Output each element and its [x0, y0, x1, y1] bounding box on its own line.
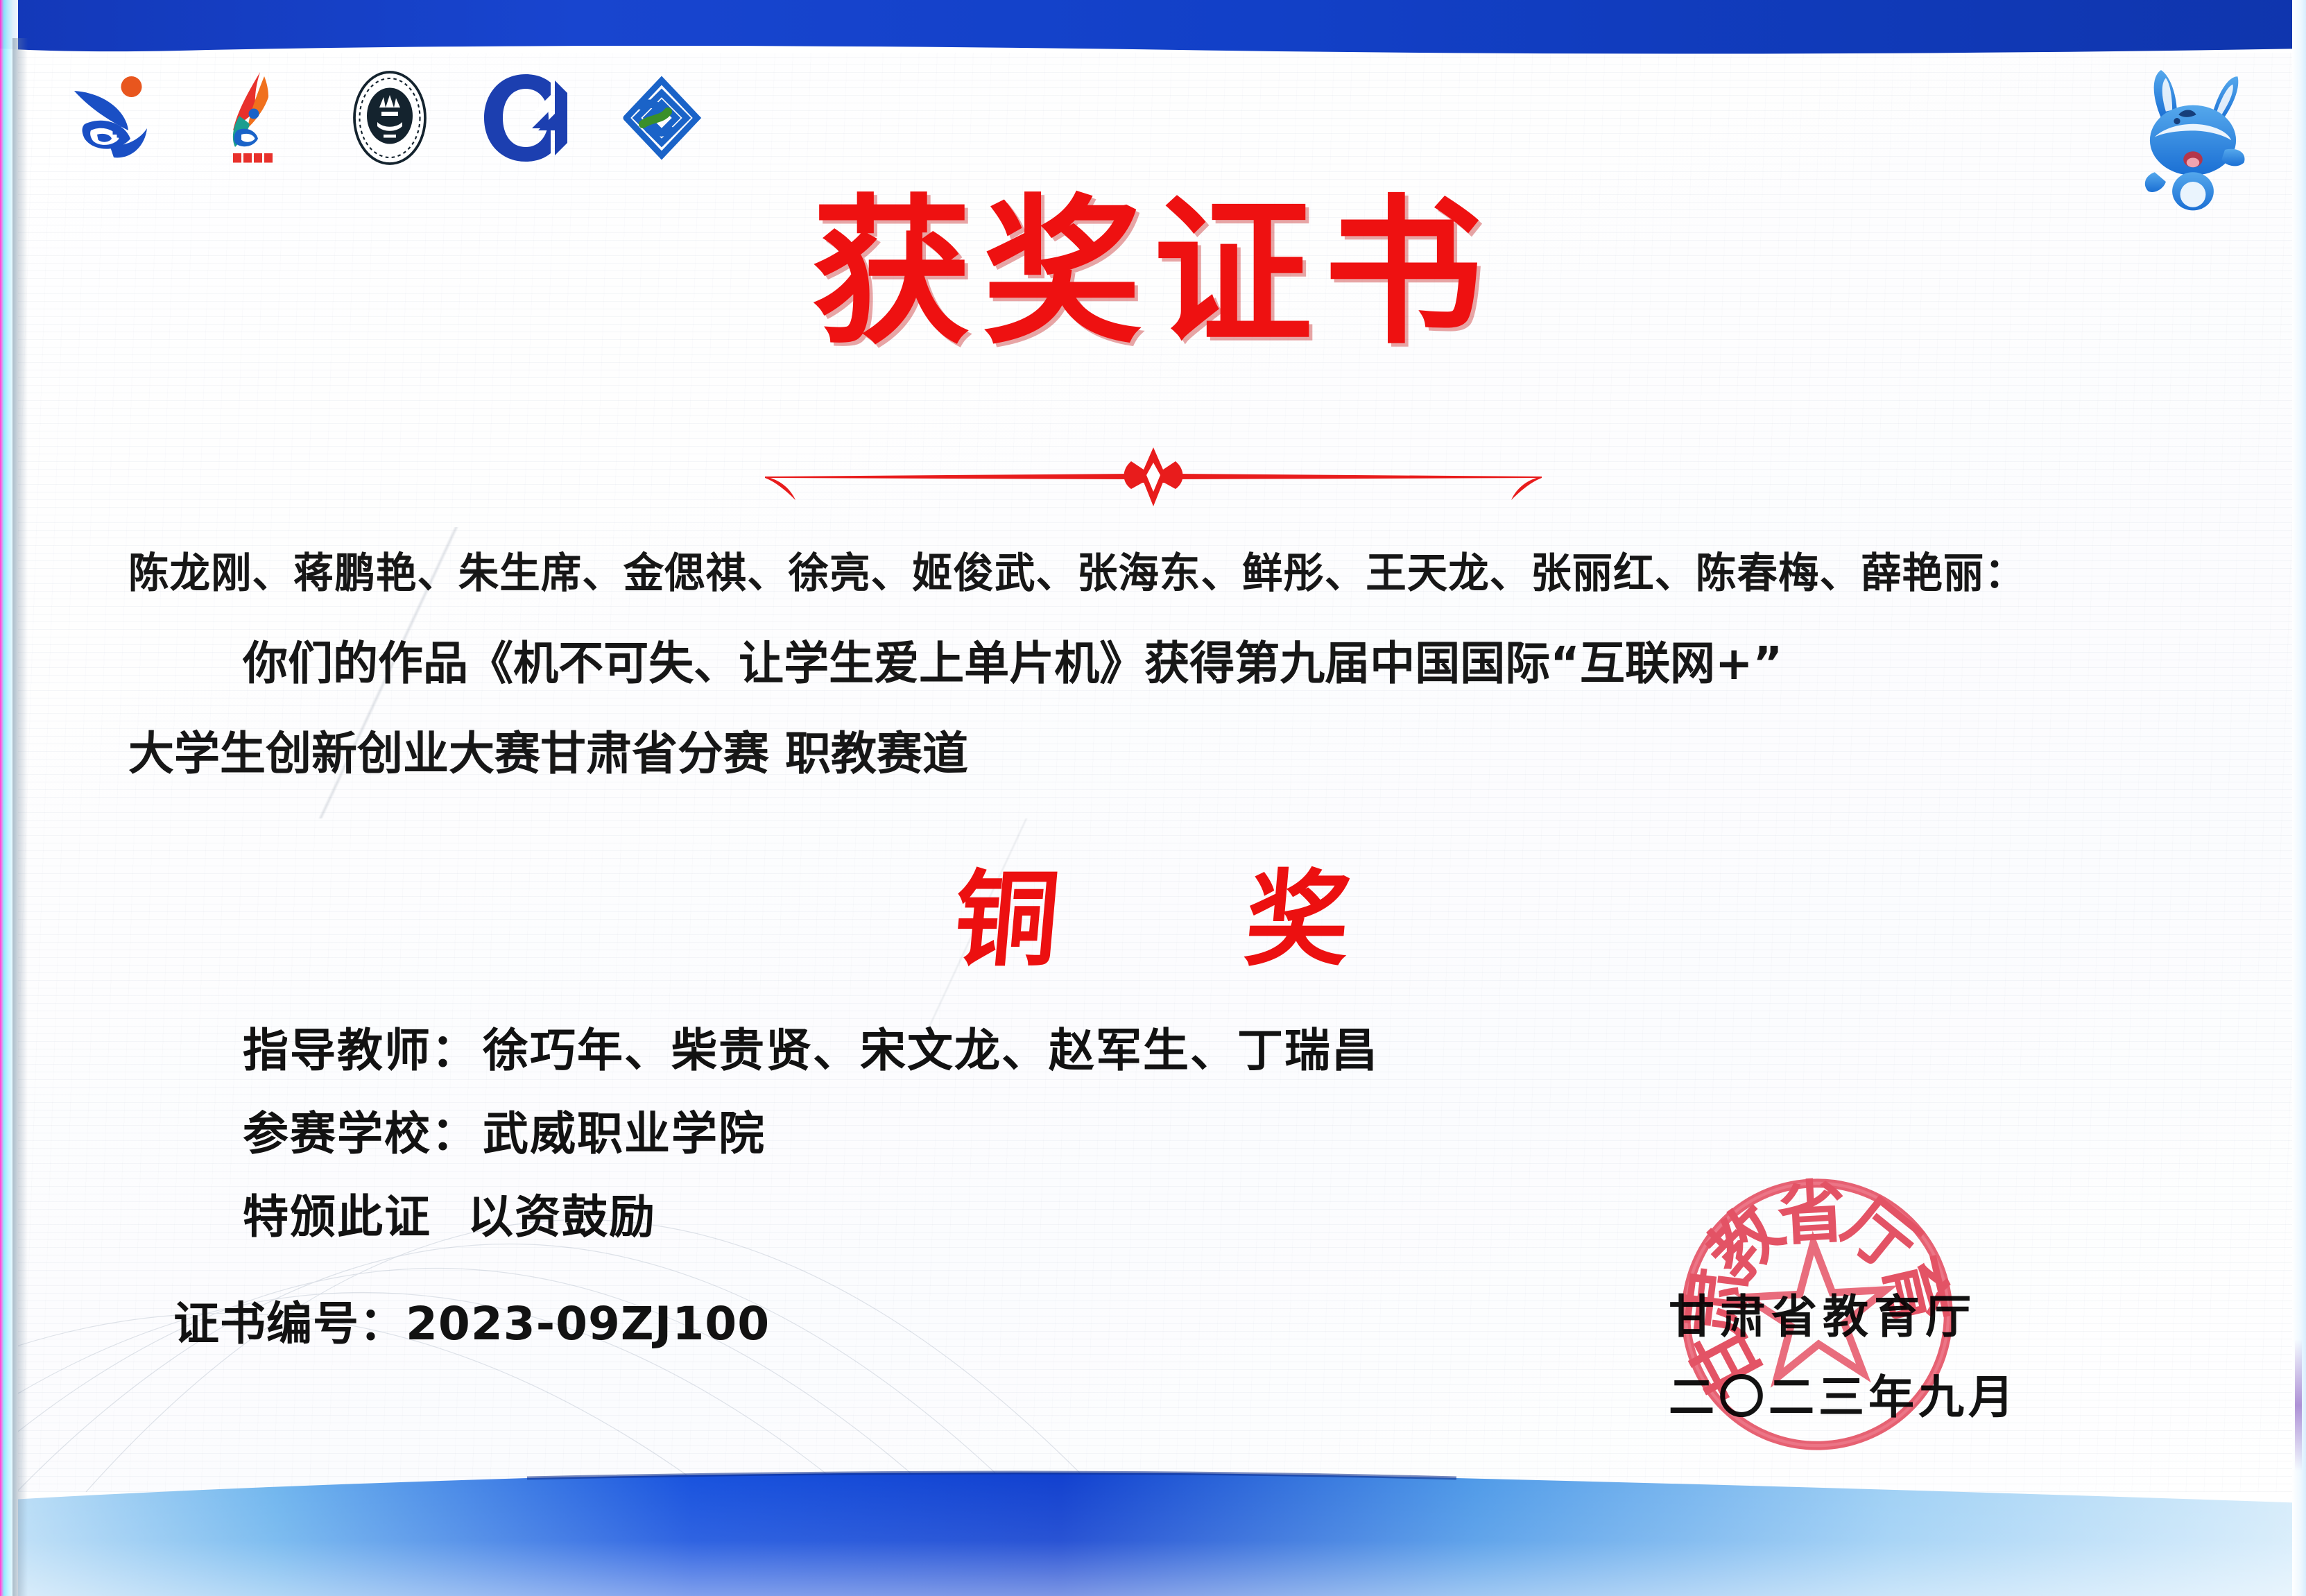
logo-flame-emblem	[202, 66, 306, 170]
details-block: 指导教师：徐巧年、柴贵贤、宋文龙、赵军生、丁瑞昌 参赛学校：武威职业学院 特颁此…	[243, 1009, 1379, 1259]
logo-cmdc-blue-figure	[66, 66, 170, 170]
advisor-row: 指导教师：徐巧年、柴贵贤、宋文龙、赵军生、丁瑞昌	[243, 1009, 1379, 1092]
logo-china-mobile	[610, 66, 714, 170]
certificate-title: 获奖证书	[0, 194, 2306, 354]
certificate-number-value: 2023-09ZJ100	[406, 1297, 770, 1350]
ornamental-divider	[744, 434, 1563, 510]
award-level: 铜 奖	[0, 836, 2306, 986]
advisor-value: 徐巧年、柴贵贤、宋文龙、赵军生、丁瑞昌	[483, 1024, 1379, 1077]
certificate-page: 获奖证书 陈龙刚、蒋鹏艳、朱生席、金偲祺、徐亮、姬俊武、张海东、鲜彤、王天龙、张…	[0, 0, 2306, 1596]
recipients-line: 陈龙刚、蒋鹏艳、朱生席、金偲祺、徐亮、姬俊武、张海东、鲜彤、王天龙、张丽红、陈春…	[128, 540, 2026, 600]
school-value: 武威职业学院	[483, 1107, 766, 1160]
official-red-seal: 省 教 厅 肃 育 甘	[1660, 1158, 1974, 1471]
school-label: 参赛学校：	[243, 1107, 479, 1160]
citation-line-1: 你们的作品《机不可失、让学生爱上单片机》获得第九届中国国际“互联网+”	[243, 626, 1782, 693]
certificate-number-row: 证书编号：2023-09ZJ100	[173, 1287, 770, 1353]
certificate-number-label: 证书编号：	[173, 1297, 406, 1350]
mascot-blue-rabbit	[2113, 54, 2273, 214]
closing-row: 特颁此证以资鼓励	[243, 1176, 1379, 1259]
closing-right: 以资鼓励	[467, 1190, 656, 1244]
logo-university-seal	[338, 66, 442, 170]
citation-line-2: 大学生创新创业大赛甘肃省分赛 职教赛道	[128, 717, 968, 783]
logo-ccb-china-construction-bank	[474, 66, 578, 170]
sponsor-logo-row	[66, 66, 714, 170]
advisor-label: 指导教师：	[243, 1024, 479, 1077]
closing-left: 特颁此证	[243, 1190, 431, 1244]
school-row: 参赛学校：武威职业学院	[243, 1092, 1379, 1176]
